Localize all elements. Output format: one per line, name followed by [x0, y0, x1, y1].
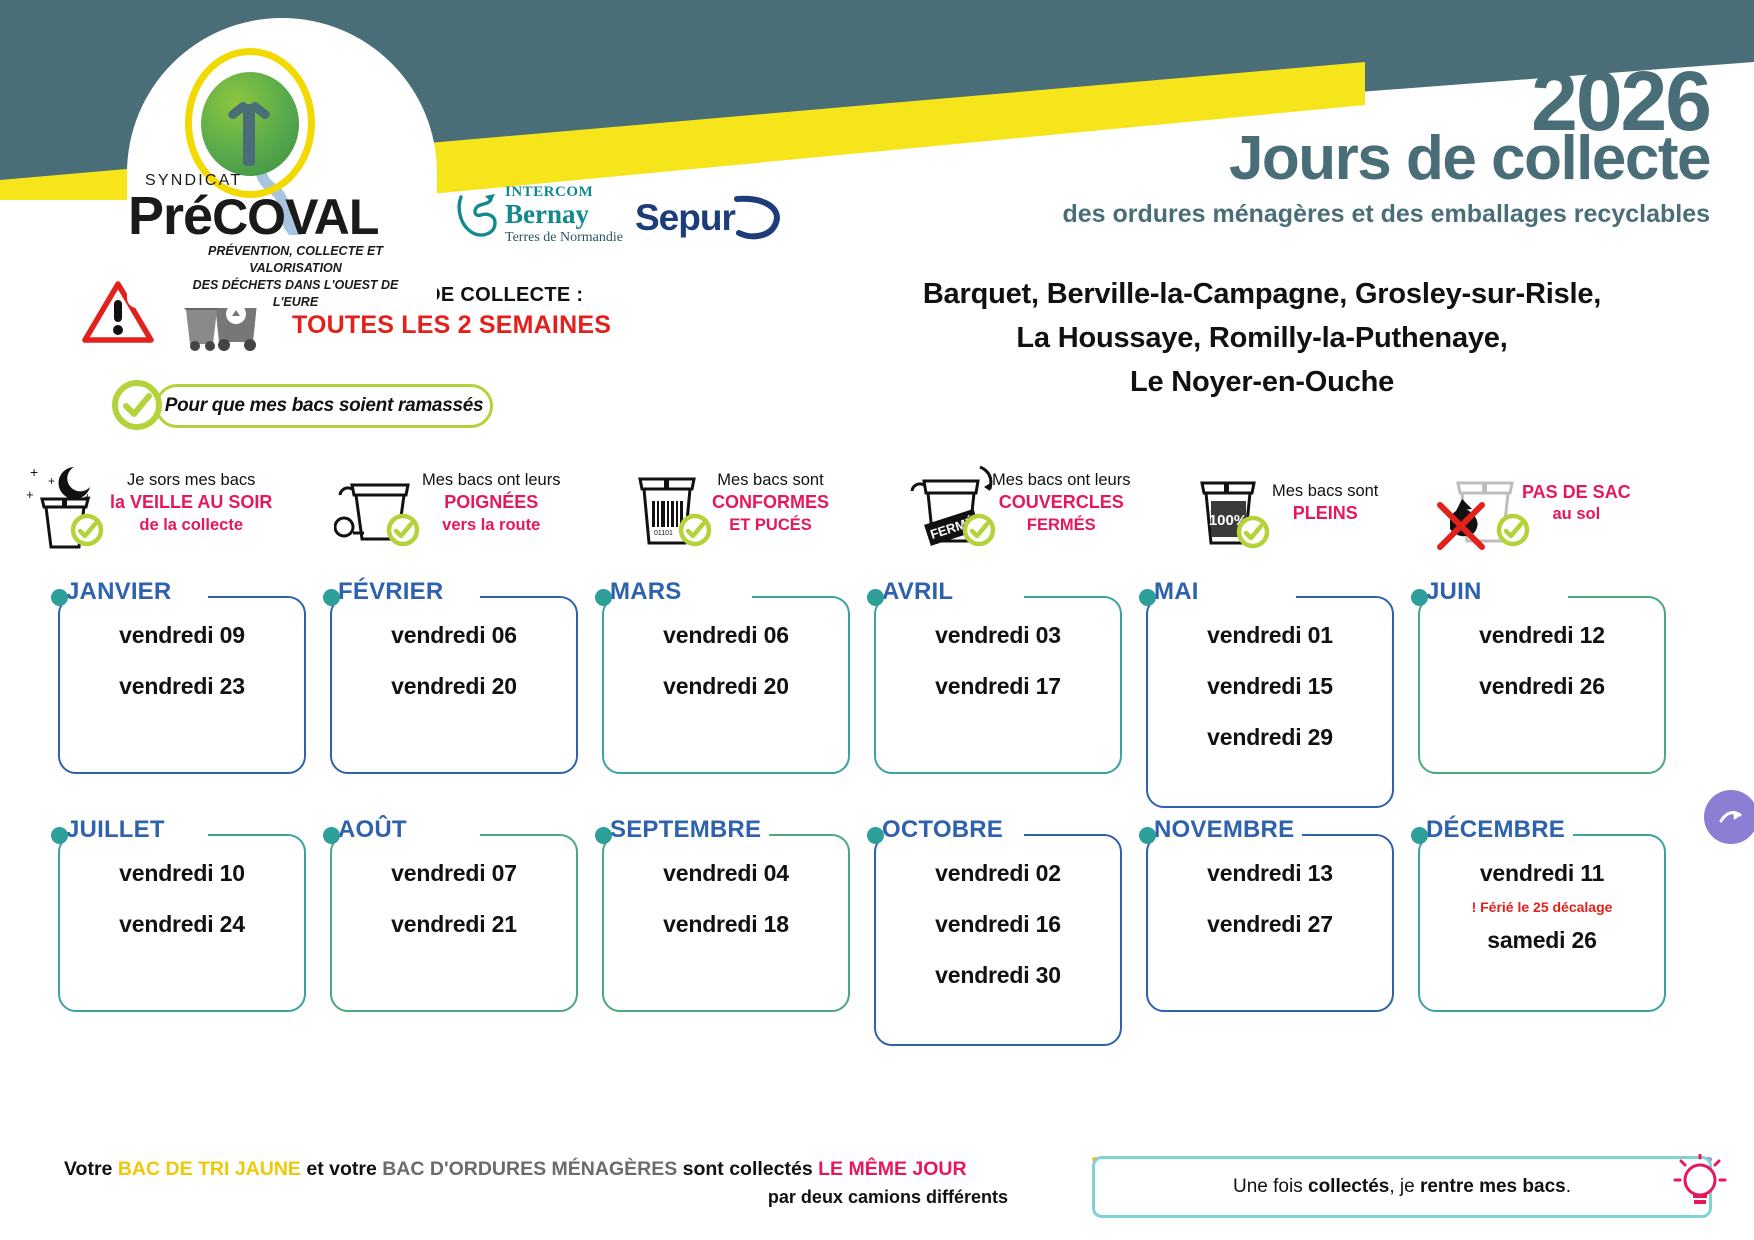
instruction-poignees-label: Mes bacs ont leurs POIGNÉES vers la rout… — [422, 470, 560, 535]
month-name: AVRIL — [882, 578, 961, 606]
pasdesac-accent: PAS DE SAC — [1522, 481, 1631, 504]
collection-dates: vendredi 09vendredi 23 — [60, 598, 304, 698]
logo-tagline: PRÉVENTION, COLLECTE ET VALORISATION DES… — [188, 243, 403, 311]
collection-dates: vendredi 10vendredi 24 — [60, 836, 304, 936]
collection-date: vendredi 09 — [60, 624, 304, 647]
month-card-mars: MARSvendredi 06vendredi 20 — [602, 578, 850, 808]
month-card-box: vendredi 01vendredi 15vendredi 29 — [1146, 596, 1394, 808]
month-card-août: AOÛTvendredi 07vendredi 21 — [330, 816, 578, 1046]
calendar-grid: JANVIERvendredi 09vendredi 23FÉVRIERvend… — [58, 578, 1698, 1054]
towns-list: Barquet, Berville-la-Campagne, Grosley-s… — [822, 272, 1702, 404]
month-card-box: vendredi 12vendredi 26 — [1418, 596, 1666, 774]
check-badge-icon — [678, 513, 712, 547]
collection-date: vendredi 07 — [332, 862, 576, 885]
calendar-row-1: JANVIERvendredi 09vendredi 23FÉVRIERvend… — [58, 578, 1698, 808]
collection-date: vendredi 21 — [332, 913, 576, 936]
month-name: DÉCEMBRE — [1426, 816, 1573, 844]
collection-date: vendredi 11 — [1420, 862, 1664, 885]
conformes-accent: CONFORMES — [712, 491, 829, 514]
next-arrow-badge[interactable] — [1704, 790, 1754, 844]
check-badge-icon — [1496, 513, 1530, 547]
card-corner-dot — [595, 827, 612, 844]
instruction-pasdesac-label: PAS DE SAC au sol — [1522, 481, 1631, 525]
pasdesac-plain2: au sol — [1522, 504, 1631, 525]
collection-date: vendredi 06 — [604, 624, 848, 647]
instructions-row: + + + + Je sors mes bacs la VEILLE AU SO… — [22, 448, 1734, 558]
svg-text:+: + — [26, 487, 34, 502]
footer-l1-b: et votre — [301, 1158, 382, 1180]
card-corner-dot — [323, 589, 340, 606]
logo-name-coval: covaL — [212, 189, 378, 245]
month-card-septembre: SEPTEMBREvendredi 04vendredi 18 — [602, 816, 850, 1046]
check-circle-icon — [110, 378, 164, 432]
sepur-swoosh-icon — [731, 195, 789, 241]
poignees-plain2: vers la route — [422, 515, 560, 536]
month-card-box: vendredi 07vendredi 21 — [330, 834, 578, 1012]
bin-barcode-icon: 01101 — [624, 455, 708, 551]
collection-dates: vendredi 13vendredi 27 — [1148, 836, 1392, 936]
month-card-box: vendredi 13vendredi 27 — [1146, 834, 1394, 1012]
collection-date: vendredi 03 — [876, 624, 1120, 647]
month-card-janvier: JANVIERvendredi 09vendredi 23 — [58, 578, 306, 808]
instruction-couvercles: FERMÉ Mes bacs ont leurs COUVERCLES FERM… — [904, 455, 1184, 551]
footer-left-note: Votre BAC DE TRI JAUNE et votre BAC D'OR… — [64, 1154, 1024, 1212]
month-card-box: vendredi 09vendredi 23 — [58, 596, 306, 774]
footer-r-c: , je — [1389, 1176, 1420, 1197]
collection-dates: vendredi 03vendredi 17 — [876, 598, 1120, 698]
month-name: JUIN — [1426, 578, 1489, 606]
intercom-line1: INTERCOM — [505, 185, 623, 200]
footer-l1-a: Votre — [64, 1158, 118, 1180]
card-corner-dot — [51, 589, 68, 606]
footer-r-e: . — [1566, 1176, 1571, 1197]
bin-handle-icon — [334, 455, 418, 551]
swan-icon — [455, 191, 499, 239]
collection-dates: vendredi 01vendredi 15vendredi 29 — [1148, 598, 1392, 749]
calendar-row-2: JUILLETvendredi 10vendredi 24AOÛTvendred… — [58, 816, 1698, 1046]
collection-date: vendredi 16 — [876, 913, 1120, 936]
month-card-box: vendredi 06vendredi 20 — [602, 596, 850, 774]
month-card-octobre: OCTOBREvendredi 02vendredi 16vendredi 30 — [874, 816, 1122, 1046]
poignees-plain1: Mes bacs ont leurs — [422, 470, 560, 491]
collection-date: vendredi 06 — [332, 624, 576, 647]
month-card-box: vendredi 10vendredi 24 — [58, 834, 306, 1012]
logo-name-pre: Pré — [128, 186, 212, 246]
footer-right-note: Une fois collectés, je rentre mes bacs. — [1092, 1156, 1712, 1218]
collection-dates: vendredi 11! Férié le 25 décalagesamedi … — [1420, 836, 1664, 952]
check-badge-icon — [962, 513, 996, 547]
collection-dates: vendredi 07vendredi 21 — [332, 836, 576, 936]
towns-line-3: Le Noyer-en-Ouche — [822, 360, 1702, 404]
towns-line-2: La Houssaye, Romilly-la-Puthenaye, — [822, 316, 1702, 360]
check-badge-icon — [386, 513, 420, 547]
veille-plain2: de la collecte — [110, 515, 272, 536]
bin-full-icon: 100% — [1184, 455, 1268, 551]
month-name: MARS — [610, 578, 689, 606]
svg-text:+: + — [30, 464, 38, 480]
month-card-box: vendredi 02vendredi 16vendredi 30 — [874, 834, 1122, 1046]
month-card-avril: AVRILvendredi 03vendredi 17 — [874, 578, 1122, 808]
collection-date: vendredi 20 — [604, 675, 848, 698]
collection-date: vendredi 20 — [332, 675, 576, 698]
collection-date: vendredi 18 — [604, 913, 848, 936]
towns-line-1: Barquet, Berville-la-Campagne, Grosley-s… — [822, 272, 1702, 316]
callout-banner: Pour que mes bacs soient ramassés — [155, 384, 493, 428]
month-card-mai: MAIvendredi 01vendredi 15vendredi 29 — [1146, 578, 1394, 808]
instruction-veille-label: Je sors mes bacs la VEILLE AU SOIR de la… — [110, 470, 272, 535]
callout-text: Pour que mes bacs soient ramassés — [165, 395, 484, 417]
card-corner-dot — [1411, 589, 1428, 606]
barcode-number-text: 01101 — [654, 530, 673, 537]
footer-r-d: rentre mes bacs — [1420, 1176, 1566, 1197]
instruction-veille: + + + + Je sors mes bacs la VEILLE AU SO… — [22, 455, 334, 551]
holiday-shift-note: ! Férié le 25 décalage — [1420, 899, 1664, 915]
no-bag-on-ground-icon — [1434, 455, 1518, 551]
veille-plain1: Je sors mes bacs — [110, 470, 272, 491]
month-card-box: vendredi 03vendredi 17 — [874, 596, 1122, 774]
conformes-plain2: ET PUCÉS — [712, 515, 829, 536]
month-card-février: FÉVRIERvendredi 06vendredi 20 — [330, 578, 578, 808]
tree-trunk-icon — [243, 104, 255, 166]
month-name: SEPTEMBRE — [610, 816, 769, 844]
footer-left-line2: par deux camions différents — [64, 1184, 1024, 1212]
collection-date: vendredi 27 — [1148, 913, 1392, 936]
frequency-value: TOUTES LES 2 SEMAINES — [292, 309, 611, 341]
intercom-line2: Bernay — [505, 201, 623, 228]
footer-r-b: collectés — [1308, 1176, 1389, 1197]
couvercles-plain1: Mes bacs ont leurs — [992, 470, 1130, 491]
page-title: Jours de collecte — [1229, 128, 1710, 190]
card-corner-dot — [323, 827, 340, 844]
footer-l1-pink: LE MÊME JOUR — [818, 1158, 966, 1180]
footer-r-a: Une fois — [1233, 1176, 1308, 1197]
sepur-logo: Sepur — [635, 195, 789, 241]
card-corner-dot — [867, 827, 884, 844]
pleins-plain1: Mes bacs sont — [1272, 481, 1378, 502]
collection-date: vendredi 13 — [1148, 862, 1392, 885]
bin-night-icon: + + + + — [22, 455, 106, 551]
collection-date: vendredi 26 — [1420, 675, 1664, 698]
intercom-bernay-logo: INTERCOM Bernay Terres de Normandie — [455, 185, 623, 245]
month-card-juillet: JUILLETvendredi 10vendredi 24 — [58, 816, 306, 1046]
month-card-décembre: DÉCEMBREvendredi 11! Férié le 25 décalag… — [1418, 816, 1666, 1046]
month-name: MAI — [1154, 578, 1207, 606]
footer-l1-yellow: BAC DE TRI JAUNE — [118, 1158, 301, 1180]
intercom-text: INTERCOM Bernay Terres de Normandie — [505, 185, 623, 245]
month-name: JANVIER — [66, 578, 179, 606]
collection-date: vendredi 02 — [876, 862, 1120, 885]
card-corner-dot — [1139, 827, 1156, 844]
collection-date: vendredi 29 — [1148, 726, 1392, 749]
bin-closed-lid-icon: FERMÉ — [904, 455, 988, 551]
instruction-pleins-label: Mes bacs sont PLEINS — [1272, 481, 1378, 525]
month-card-novembre: NOVEMBREvendredi 13vendredi 27 — [1146, 816, 1394, 1046]
collection-date: vendredi 30 — [876, 964, 1120, 987]
page-subtitle: des ordures ménagères et des emballages … — [1062, 200, 1710, 229]
footer-l1-c: sont collectés — [677, 1158, 818, 1180]
svg-text:+: + — [48, 474, 55, 488]
collection-dates: vendredi 12vendredi 26 — [1420, 598, 1664, 698]
card-corner-dot — [51, 827, 68, 844]
collection-date: vendredi 12 — [1420, 624, 1664, 647]
footer-left-line1: Votre BAC DE TRI JAUNE et votre BAC D'OR… — [64, 1154, 1024, 1184]
couvercles-plain2: FERMÉS — [992, 515, 1130, 536]
collection-date: vendredi 10 — [60, 862, 304, 885]
collection-date: vendredi 23 — [60, 675, 304, 698]
logo-tagline-line2: DES DÉCHETS DANS L'OUEST DE L'EURE — [188, 277, 403, 311]
collection-date: vendredi 15 — [1148, 675, 1392, 698]
lightbulb-icon — [1672, 1154, 1728, 1216]
veille-accent: la VEILLE AU SOIR — [110, 491, 272, 514]
couvercles-accent: COUVERCLES — [992, 491, 1130, 514]
month-name: FÉVRIER — [338, 578, 451, 606]
month-card-box: vendredi 04vendredi 18 — [602, 834, 850, 1012]
check-badge-icon — [1236, 515, 1270, 549]
instruction-conformes-label: Mes bacs sont CONFORMES ET PUCÉS — [712, 470, 829, 535]
footer-l1-grey: BAC D'ORDURES MÉNAGÈRES — [382, 1158, 677, 1180]
collection-dates: vendredi 06vendredi 20 — [332, 598, 576, 698]
month-name: NOVEMBRE — [1154, 816, 1302, 844]
logo-green-circle-icon — [201, 72, 299, 176]
pleins-accent: PLEINS — [1272, 502, 1378, 525]
instruction-pleins: 100% Mes bacs sont PLEINS — [1184, 455, 1434, 551]
arrow-right-icon — [1718, 807, 1744, 827]
logo-name: PrécovaL — [128, 185, 378, 247]
card-corner-dot — [867, 589, 884, 606]
check-badge-icon — [70, 513, 104, 547]
collection-dates: vendredi 02vendredi 16vendredi 30 — [876, 836, 1120, 987]
month-card-juin: JUINvendredi 12vendredi 26 — [1418, 578, 1666, 808]
footer-right-text: Une fois collectés, je rentre mes bacs. — [1233, 1176, 1571, 1198]
month-name: AOÛT — [338, 816, 415, 844]
conformes-plain1: Mes bacs sont — [712, 470, 829, 491]
intercom-line3: Terres de Normandie — [505, 231, 623, 245]
collection-dates: vendredi 04vendredi 18 — [604, 836, 848, 936]
month-card-box: vendredi 11! Férié le 25 décalagesamedi … — [1418, 834, 1666, 1012]
card-corner-dot — [595, 589, 612, 606]
logo-tagline-line1: PRÉVENTION, COLLECTE ET VALORISATION — [188, 243, 403, 277]
card-corner-dot — [1411, 827, 1428, 844]
sepur-wordmark: Sepur — [635, 197, 735, 239]
instruction-poignees: Mes bacs ont leurs POIGNÉES vers la rout… — [334, 455, 624, 551]
collection-date: vendredi 01 — [1148, 624, 1392, 647]
collection-date: vendredi 17 — [876, 675, 1120, 698]
instruction-conformes: 01101 Mes bacs sont CONFORMES ET PUCÉS — [624, 455, 904, 551]
instruction-couvercles-label: Mes bacs ont leurs COUVERCLES FERMÉS — [992, 470, 1130, 535]
month-card-box: vendredi 06vendredi 20 — [330, 596, 578, 774]
instruction-pasdesac: PAS DE SAC au sol — [1434, 455, 1694, 551]
poignees-accent: POIGNÉES — [422, 491, 560, 514]
collection-date: vendredi 04 — [604, 862, 848, 885]
collection-dates: vendredi 06vendredi 20 — [604, 598, 848, 698]
collection-date: samedi 26 — [1420, 929, 1664, 952]
month-name: OCTOBRE — [882, 816, 1011, 844]
card-corner-dot — [1139, 589, 1156, 606]
month-name: JUILLET — [66, 816, 173, 844]
collection-date: vendredi 24 — [60, 913, 304, 936]
